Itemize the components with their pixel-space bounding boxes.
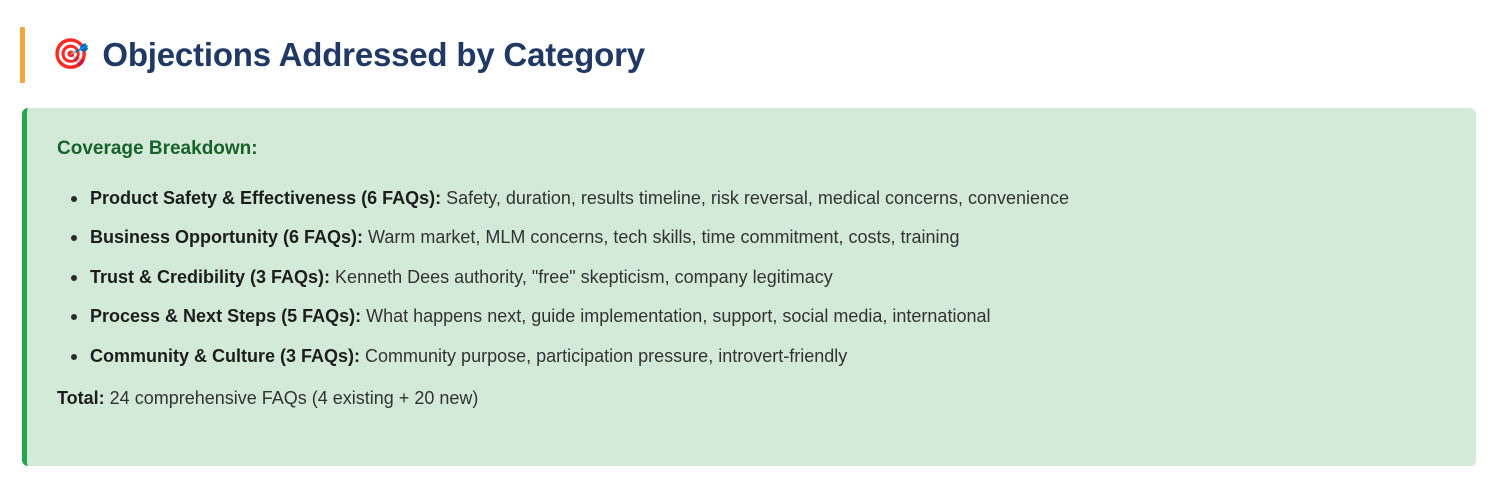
- total-summary: Total: 24 comprehensive FAQs (4 existing…: [57, 387, 1448, 410]
- list-item: Business Opportunity (6 FAQs): Warm mark…: [57, 226, 1448, 249]
- total-label: Total:: [57, 388, 105, 408]
- panel-heading: Coverage Breakdown:: [57, 138, 1448, 161]
- total-description: 24 comprehensive FAQs (4 existing + 20 n…: [110, 388, 479, 408]
- list-item-description: Safety, duration, results timeline, risk…: [446, 188, 1069, 208]
- list-item-description: Warm market, MLM concerns, tech skills, …: [368, 227, 959, 247]
- header-accent-bar: [20, 27, 25, 83]
- page-title: Objections Addressed by Category: [102, 36, 645, 74]
- list-item: Trust & Credibility (3 FAQs): Kenneth De…: [57, 266, 1448, 289]
- list-item-description: Kenneth Dees authority, "free" skepticis…: [335, 267, 833, 287]
- list-item-description: Community purpose, participation pressur…: [365, 346, 847, 366]
- dart-target-icon: 🎯: [52, 40, 89, 70]
- page-header: 🎯 Objections Addressed by Category: [20, 26, 645, 84]
- list-item-label: Community & Culture (3 FAQs):: [90, 346, 360, 366]
- breakdown-list: Product Safety & Effectiveness (6 FAQs):…: [57, 187, 1448, 368]
- coverage-breakdown-panel: Coverage Breakdown: Product Safety & Eff…: [22, 108, 1476, 466]
- list-item: Product Safety & Effectiveness (6 FAQs):…: [57, 187, 1448, 210]
- list-item-description: What happens next, guide implementation,…: [366, 306, 990, 326]
- page-root: 🎯 Objections Addressed by Category Cover…: [0, 0, 1500, 486]
- list-item-label: Product Safety & Effectiveness (6 FAQs):: [90, 188, 441, 208]
- list-item-label: Trust & Credibility (3 FAQs):: [90, 267, 330, 287]
- list-item-label: Business Opportunity (6 FAQs):: [90, 227, 363, 247]
- list-item: Process & Next Steps (5 FAQs): What happ…: [57, 305, 1448, 328]
- list-item: Community & Culture (3 FAQs): Community …: [57, 345, 1448, 368]
- list-item-label: Process & Next Steps (5 FAQs):: [90, 306, 361, 326]
